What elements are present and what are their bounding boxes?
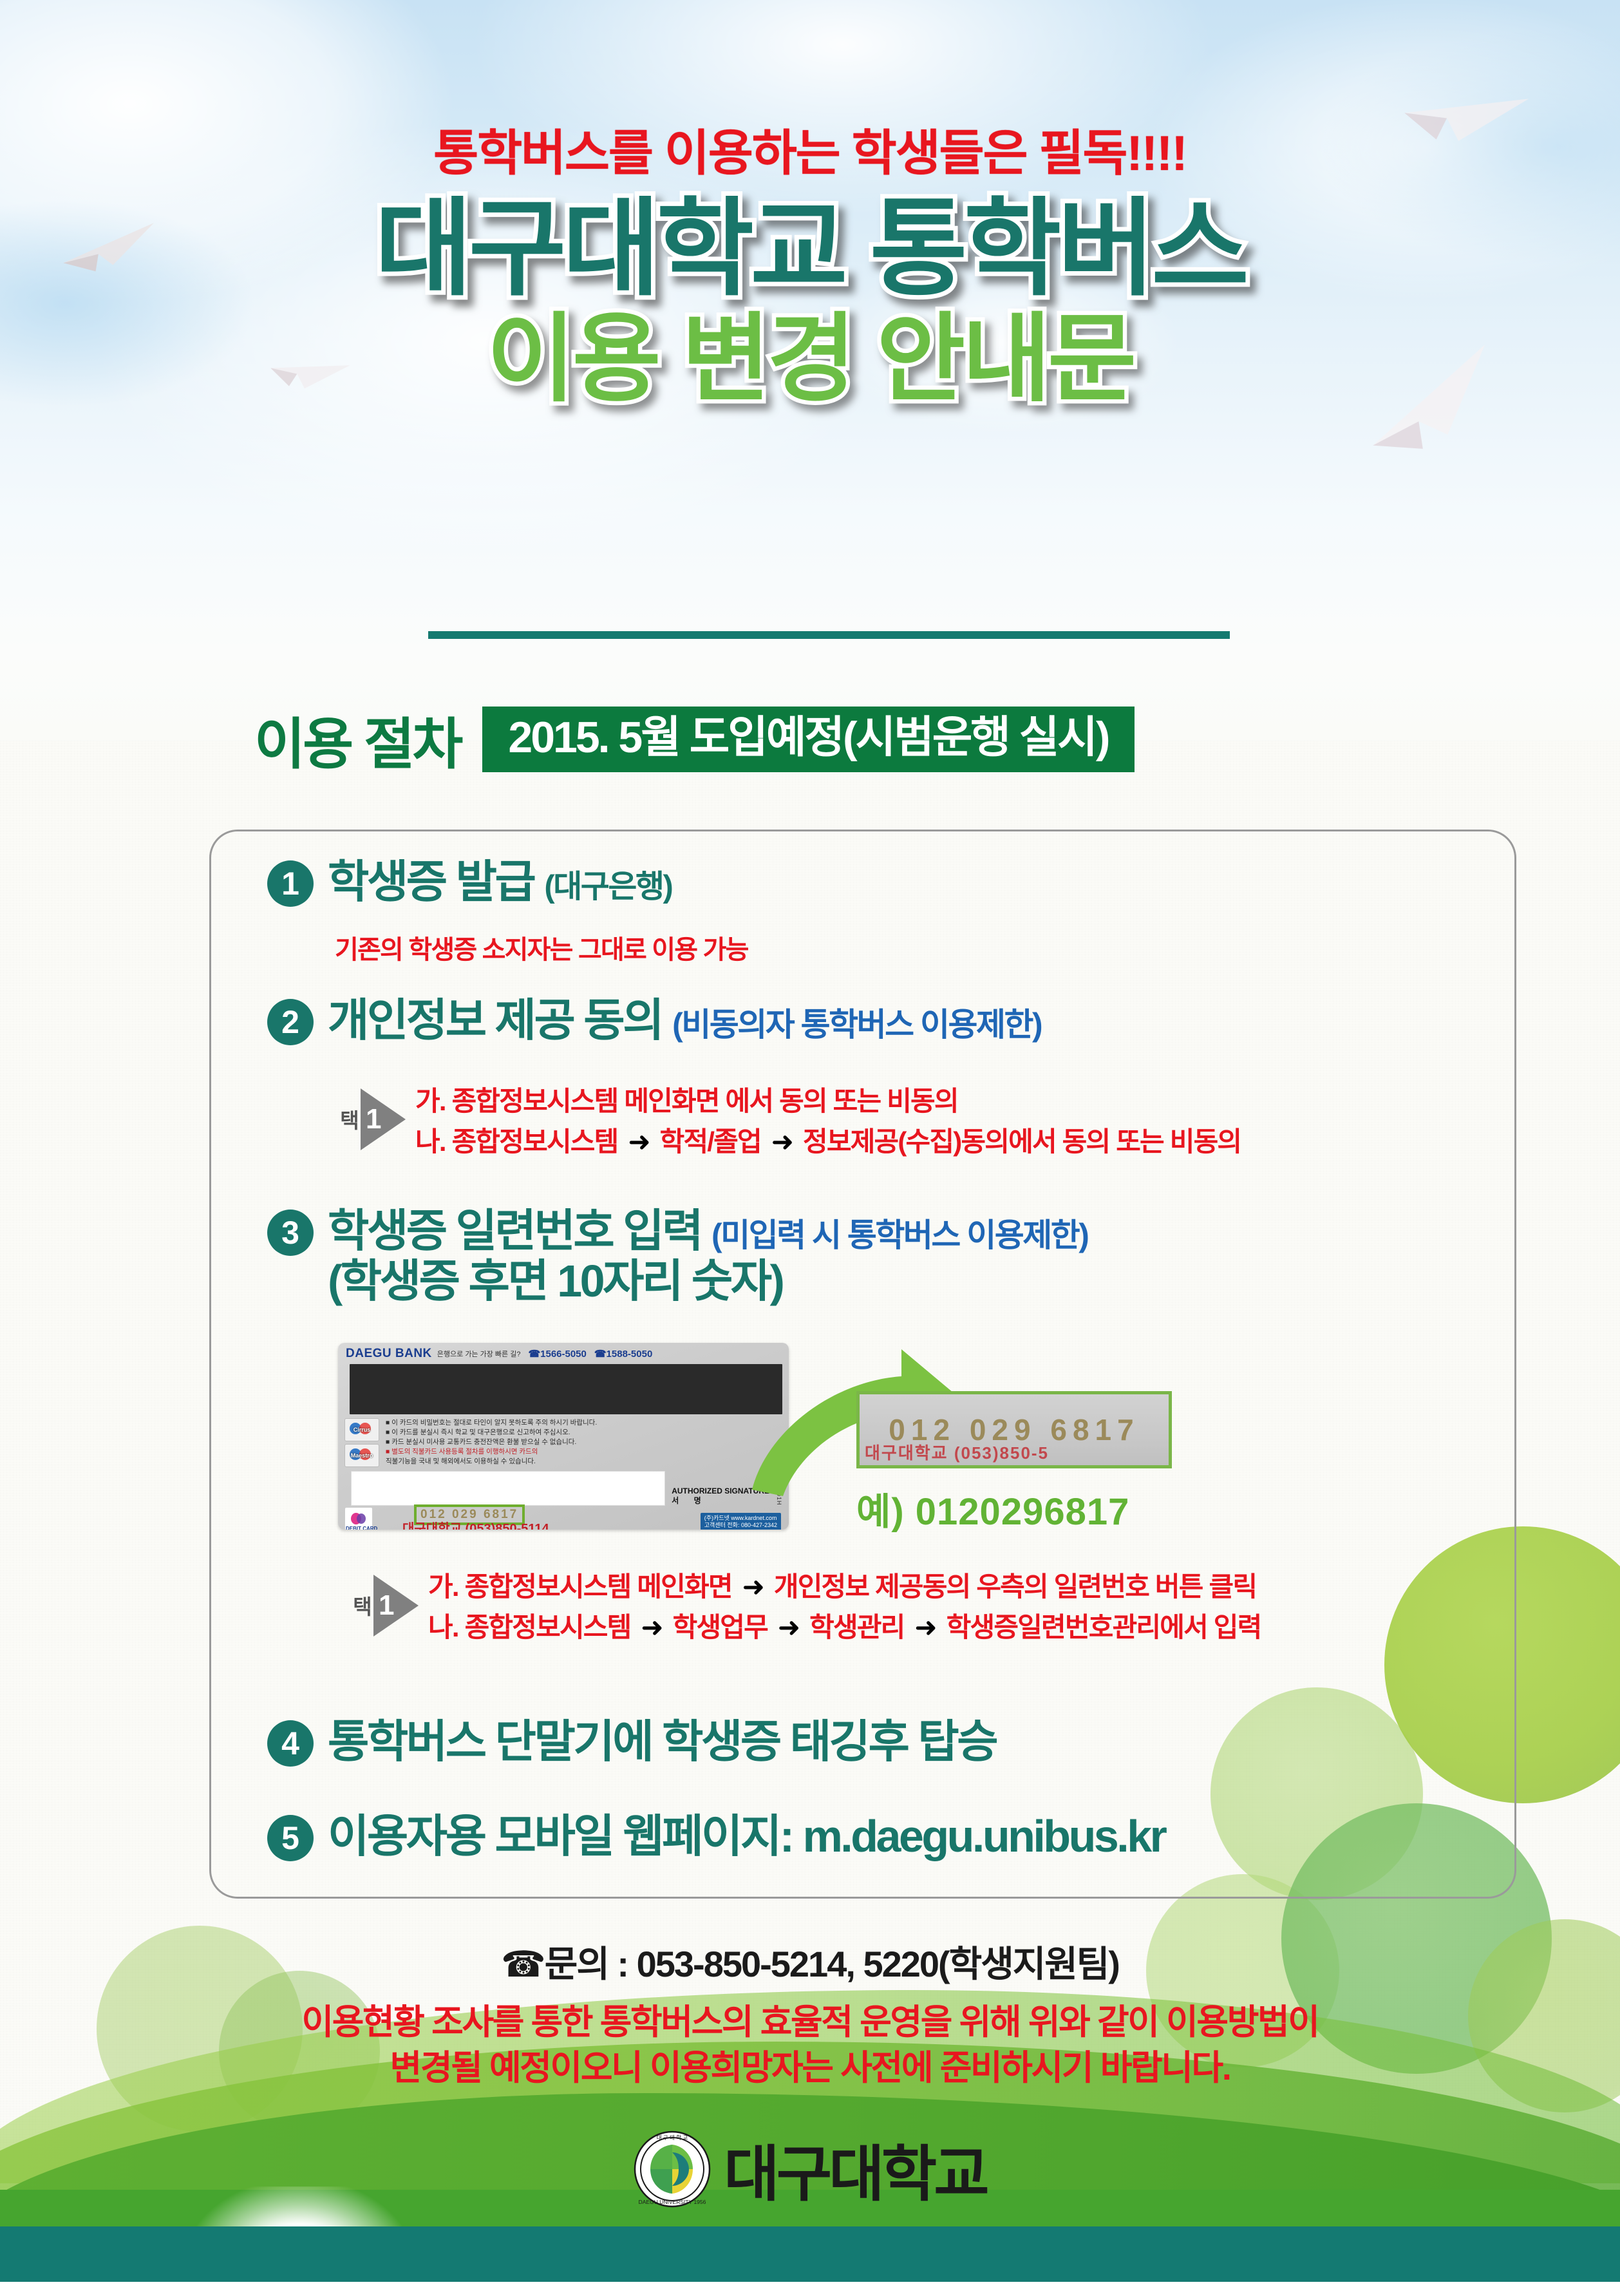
arrow-icon: ➜ [774,1612,803,1642]
arrow-icon: ➜ [624,1126,653,1157]
step-3-substeps: 가. 종합정보시스템 메인화면 ➜ 개인정보 제공동의 우측의 일련번호 버튼 … [428,1566,1261,1647]
step-2-sub-b-p1: 나. 종합정보시스템 [415,1126,617,1157]
step-4: 4 통학버스 단말기에 학생증 태깅후 탑승 [267,1716,996,1767]
card-bullet: ■ 이 카드를 분실시 즉시 학교 및 대구은행으로 신고하여 주십시오. [386,1428,782,1437]
university-logo-row: 대 구 대 학 교 DAEGU UNIVERSITY 1956 대구대학교 [0,2125,1620,2213]
title-line-2: 이용 변경 안내문 [0,308,1620,410]
step-2-paren: (비동의자 통학버스 이용제한) [672,1007,1041,1043]
pick-label: 택 [351,1596,372,1616]
card-bullet: 직불기능을 국내 및 해외에서도 이용하실 수 있습니다. [386,1457,782,1466]
serial-callout: 012 029 6817 대구대학교 (053)850-5 [856,1391,1172,1468]
arrow-icon: ➜ [910,1612,939,1642]
daegu-bank-logo: DAEGU BANK [346,1347,432,1361]
kardnet-tel: 고객센터 전화: 080-427-2342 [704,1522,777,1530]
notice-line-1: 이용현황 조사를 통한 통학버스의 효율적 운영을 위해 위와 같이 이용방법이 [0,2000,1620,2045]
step-number-3: 3 [267,1210,314,1256]
kardnet-url: www.kardnet.com [731,1515,777,1521]
student-card-image: DAEGU BANK 은행으로 가는 가장 빠른 길? ☎1566-5050 ☎… [338,1343,789,1530]
step-2-title-text: 개인정보 제공 동의 [328,995,662,1045]
maestro-icon: Maestro [344,1444,379,1467]
notice-block: 이용현황 조사를 통한 통학버스의 효율적 운영을 위해 위와 같이 이용방법이… [0,2000,1620,2092]
card-header: DAEGU BANK 은행으로 가는 가장 빠른 길? ☎1566-5050 ☎… [338,1343,789,1362]
step-5-url[interactable]: m.daegu.unibus.kr [803,1811,1165,1861]
arrow-icon: ➜ [768,1126,796,1157]
step-number-1: 1 [267,860,314,907]
step-3-sub-b: 나. 종합정보시스템 ➜ 학생업무 ➜ 학생관리 ➜ 학생증일련번호관리에서 입… [428,1607,1261,1647]
pick-triangle-icon: 1 [373,1575,419,1637]
university-name: 대구대학교 [724,2125,986,2213]
step-3-sub-b-p1: 나. 종합정보시스템 [428,1612,630,1642]
kardnet-box: (주)카드넷 www.kardnet.com 고객센터 전화: 080-427-… [701,1513,781,1530]
card-bottom: DEBIT CARD 012 029 6817 대구대학교 (053)850-5… [338,1506,789,1530]
step-2-sub-b-p3: 정보제공(수집)동의에서 동의 또는 비동의 [803,1126,1241,1157]
emblem-kr-text: 대 구 대 학 교 [657,2134,688,2141]
step-number-2: 2 [267,999,314,1045]
pick-number: 1 [366,1103,381,1135]
step-1-title: 학생증 발급 (대구은행) [328,857,672,907]
step-2: 2 개인정보 제공 동의 (비동의자 통학버스 이용제한) [267,995,1041,1045]
maestro-label: Maestro [351,1452,373,1459]
step-1-title-text: 학생증 발급 [328,857,534,907]
section-badge: 2015. 5월 도입예정(시범운행 실시) [482,707,1134,772]
card-signature-row: AUTHORIZED SIGNATURE 서 명 BIS 1201H [338,1467,789,1506]
card-university-line: 대구대학교 (053)850-5114 [402,1518,549,1530]
notice-line-2: 변경될 예정이오니 이용희망자는 사전에 준비하시기 바랍니다. [0,2045,1620,2091]
arrow-icon: ➜ [739,1571,768,1602]
step-3-sub-a-p1: 가. 종합정보시스템 메인화면 [428,1571,732,1602]
step-3-title-text: 학생증 일련번호 입력 [328,1206,701,1256]
divider [428,631,1230,639]
pick-triangle-icon: 1 [361,1088,406,1150]
step-3-sub-b-p4: 학생증일련번호관리에서 입력 [947,1612,1261,1642]
debit-card-label: DEBIT CARD [346,1526,377,1530]
step-3: 3 학생증 일련번호 입력 (미입력 시 통학버스 이용제한) (학생증 후면 … [267,1206,1088,1307]
daegu-university-emblem-icon: 대 구 대 학 교 DAEGU UNIVERSITY 1956 [634,2130,711,2208]
serial-example: 예) 0120296817 [856,1481,1129,1535]
kardnet-name: (주)카드넷 [704,1515,730,1521]
step-2-sub-b: 나. 종합정보시스템 ➜ 학적/졸업 ➜ 정보제공(수집)동의에서 동의 또는 … [415,1121,1241,1162]
step-number-4: 4 [267,1720,314,1767]
title-line-1: 대구대학교 통학버스 [0,193,1620,305]
card-tel-2: ☎1588-5050 [594,1348,652,1360]
card-tagline: 은행으로 가는 가장 빠른 길? [437,1349,521,1359]
card-bullet: ■ 이 카드의 비밀번호는 절대로 타인이 알지 못하도록 주의 하시기 바랍니… [386,1418,782,1428]
step-3-sub-b-p2: 학생업무 [673,1612,768,1642]
headline: 통학버스를 이용하는 학생들은 필독!!!! [0,113,1620,184]
step-5: 5 이용자용 모바일 웹페이지: m.daegu.unibus.kr [267,1811,1165,1861]
pick-label: 택 [338,1110,359,1130]
magnetic-stripe [350,1364,782,1414]
emblem-en-text: DAEGU UNIVERSITY 1956 [639,2199,706,2205]
card-bullet: ■ 별도의 직불카드 사용등록 절차를 이행하시면 카드의 [386,1447,782,1457]
card-bullet: ■ 카드 분실시 미사용 교통카드 충전잔액은 환불 받으실 수 없습니다. [386,1437,782,1447]
card-bullet-list: ■ 이 카드의 비밀번호는 절대로 타인이 알지 못하도록 주의 하시기 바랍니… [386,1418,782,1467]
step-2-sub-a: 가. 종합정보시스템 메인화면 에서 동의 또는 비동의 [415,1081,1241,1121]
bottom-bar [0,2226,1620,2282]
card-middle: Cirrus Maestro ■ 이 카드의 비밀번호는 절대로 타인이 알지 … [338,1414,789,1467]
card-tel-1: ☎1566-5050 [528,1348,586,1360]
poster-title: 대구대학교 통학버스 이용 변경 안내문 [0,193,1620,410]
step-5-title-text: 이용자용 모바일 웹페이지: [328,1811,793,1861]
step-1: 1 학생증 발급 (대구은행) [267,857,672,907]
cirrus-icon: Cirrus [344,1418,379,1441]
cirrus-label: Cirrus [353,1427,371,1433]
step-number-5: 5 [267,1815,314,1861]
pick-one-marker-step-2: 택 1 [338,1088,406,1150]
step-5-title: 이용자용 모바일 웹페이지: m.daegu.unibus.kr [328,1811,1165,1861]
section-title: 이용 절차 [254,699,460,779]
pick-one-marker-step-3: 택 1 [351,1575,419,1637]
step-3-subtitle: (학생증 후면 10자리 숫자) [328,1256,1088,1306]
callout-underline-text: 대구대학교 (053)850-5 [865,1440,1049,1464]
step-1-note: 기존의 학생증 소지자는 그대로 이용 가능 [335,929,748,966]
section-header: 이용 절차 2015. 5월 도입예정(시범운행 실시) [254,699,1135,779]
step-3-sub-b-p3: 학생관리 [809,1612,904,1642]
arrow-icon: ➜ [637,1612,666,1642]
pick-number: 1 [379,1589,394,1622]
step-1-paren: (대구은행) [544,869,672,904]
step-4-title: 통학버스 단말기에 학생증 태깅후 탑승 [328,1716,996,1767]
contact-line: ☎문의 : 053-850-5214, 5220(학생지원팀) [0,1935,1620,1988]
signature-panel [351,1471,665,1506]
step-3-title: 학생증 일련번호 입력 (미입력 시 통학버스 이용제한) (학생증 후면 10… [328,1206,1088,1307]
card-network-logos: Cirrus Maestro [344,1418,381,1467]
step-2-substeps: 가. 종합정보시스템 메인화면 에서 동의 또는 비동의 나. 종합정보시스템 … [415,1081,1241,1162]
step-3-sub-a: 가. 종합정보시스템 메인화면 ➜ 개인정보 제공동의 우측의 일련번호 버튼 … [428,1566,1261,1607]
step-2-title: 개인정보 제공 동의 (비동의자 통학버스 이용제한) [328,995,1041,1045]
step-3-sub-a-p2: 개인정보 제공동의 우측의 일련번호 버튼 클릭 [774,1571,1256,1602]
step-2-sub-b-p2: 학적/졸업 [660,1126,761,1157]
step-3-paren: (미입력 시 통학버스 이용제한) [711,1217,1088,1253]
